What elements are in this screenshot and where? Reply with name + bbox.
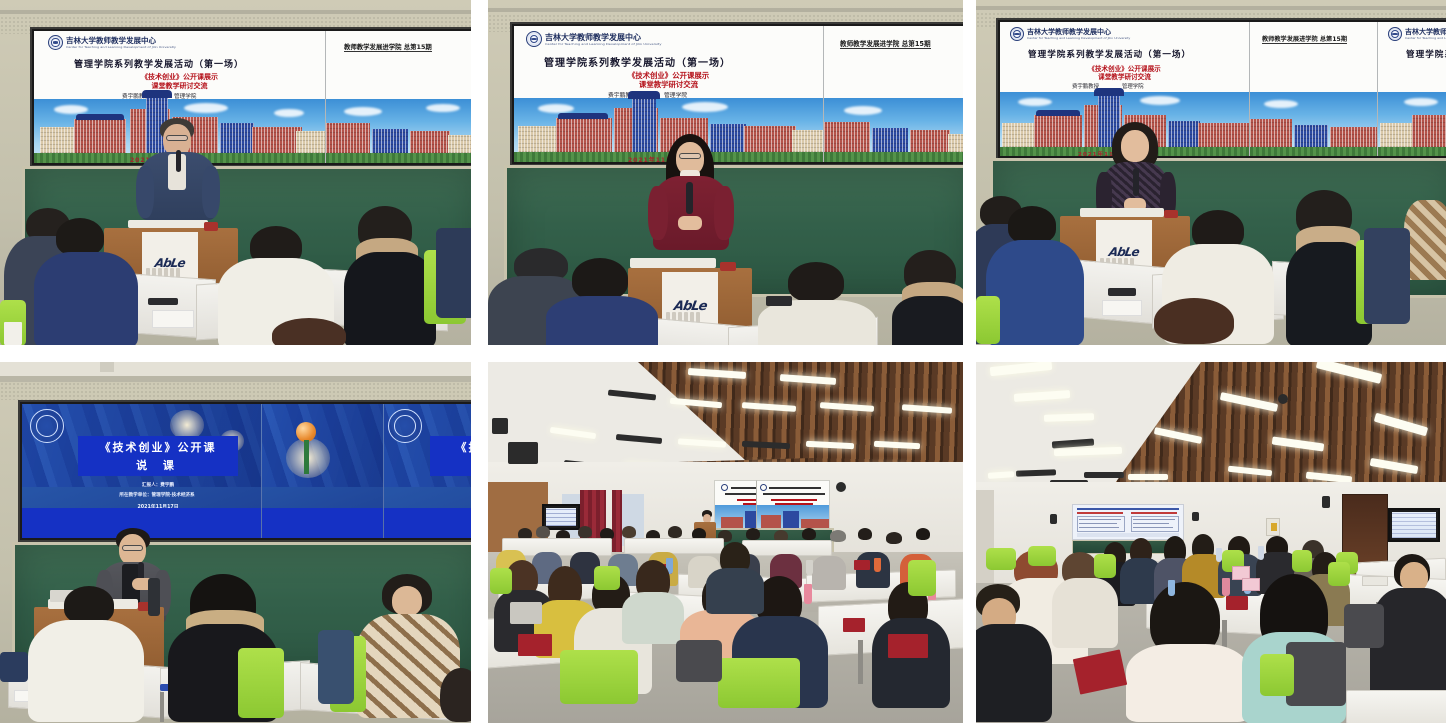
ceiling-speaker-icon bbox=[492, 418, 508, 434]
banner-red-line-2: 课堂教学研讨交流 bbox=[1000, 71, 1249, 81]
led-videowall: 吉林大学教师教学发展中心 Center for Teaching and Lea… bbox=[34, 31, 471, 163]
banner-issue: 教师教学发展进学院 总第15期 bbox=[1262, 34, 1347, 44]
ceiling-camera-icon bbox=[1278, 394, 1288, 404]
photo-cell-top-left[interactable]: 吉林大学教师教学发展中心 Center for Teaching and Lea… bbox=[0, 0, 471, 345]
banner-department: 管理学院 bbox=[1122, 82, 1144, 90]
banner-red-line-2: 课堂教学研讨交流 bbox=[1378, 71, 1446, 81]
banner-red-line-2: 课堂教学研讨交流 bbox=[34, 81, 325, 91]
led-videowall-frame: 《技术创业》公开课 说 课 汇报人：费宇鹏 所在教学单位：管理学院·技术经济系 … bbox=[18, 400, 471, 542]
banner-org-en: Center for Teaching and Learning Develop… bbox=[1027, 36, 1130, 39]
slide-panel: 《技术创业》公开课 说 课 汇报人：费宇鹏 所在教学单位：管理学院·技术经济系 … bbox=[384, 404, 471, 538]
university-seal-icon bbox=[48, 35, 63, 50]
wall-speaker-icon bbox=[1192, 512, 1199, 521]
projector-icon bbox=[508, 442, 538, 464]
banner-title: 管理学院系列教学发展活动（第一场） bbox=[1406, 48, 1446, 60]
slide-panel: 《技术创业》公开课 说 课 汇报人：费宇鹏 所在教学单位：管理学院·技术经济系 … bbox=[22, 404, 262, 538]
university-seal-icon bbox=[526, 31, 542, 47]
university-seal-icon bbox=[1010, 27, 1024, 41]
podium-brand-label: AbLe bbox=[1108, 245, 1140, 259]
wall-speaker-icon bbox=[1050, 514, 1057, 524]
banner-title: 管理学院系列教学发展活动（第一场） bbox=[74, 57, 244, 70]
led-videowall-frame: 吉林大学教师教学发展中心 Center for Teaching and Lea… bbox=[510, 22, 963, 166]
slide-title-box: 《技术创业》公开课 说 课 bbox=[78, 436, 238, 476]
photo-cell-bottom-center[interactable] bbox=[488, 362, 963, 723]
wall-speaker-icon bbox=[1322, 496, 1330, 508]
slide-panel-fill bbox=[262, 404, 384, 538]
photo-cell-bottom-left[interactable]: 《技术创业》公开课 说 课 汇报人：费宇鹏 所在教学单位：管理学院·技术经济系 … bbox=[0, 362, 471, 723]
lantern-decoration bbox=[296, 422, 316, 442]
slide-title-line-1: 《技术创业》公开课 bbox=[456, 439, 472, 455]
university-seal-icon bbox=[388, 409, 422, 443]
wall-sign bbox=[1266, 518, 1280, 536]
grid-gutter-vertical bbox=[963, 362, 976, 723]
photo-3: 吉林大学教师教学发展中心 Center for Teaching and Lea… bbox=[976, 0, 1446, 345]
slide-title-line-2: 说 课 bbox=[136, 457, 180, 473]
photo-5 bbox=[488, 362, 963, 723]
banner-title: 管理学院系列教学发展活动（第一场） bbox=[544, 54, 731, 69]
laptop bbox=[1362, 576, 1388, 586]
banner-org-en: Center for Teaching and Learning Develop… bbox=[66, 45, 176, 48]
slide-reporter: 汇报人：费宇鹏 bbox=[430, 482, 471, 488]
banner-red-line-2: 课堂教学研讨交流 bbox=[514, 79, 823, 90]
photo-6 bbox=[976, 362, 1446, 723]
slide-unit: 所在教学单位：管理学院·技术经济系 bbox=[62, 492, 252, 498]
banner-org-cn: 吉林大学教师教学发展中心 bbox=[1027, 28, 1130, 36]
presentation-slide-wall: 《技术创业》公开课 说 课 汇报人：费宇鹏 所在教学单位：管理学院·技术经济系 … bbox=[22, 404, 471, 538]
university-seal-icon bbox=[30, 409, 64, 443]
banner-org-en: Center for Teaching and Learning Develop… bbox=[1405, 36, 1446, 39]
ceiling-camera-icon bbox=[836, 482, 846, 492]
grid-gutter-vertical bbox=[471, 0, 488, 345]
grid-gutter-horizontal bbox=[0, 345, 1446, 362]
banner-org-en: Center for Teaching and Learning Develop… bbox=[545, 42, 661, 45]
university-seal-icon bbox=[1388, 27, 1402, 41]
photo-grid: 吉林大学教师教学发展中心 Center for Teaching and Lea… bbox=[0, 0, 1446, 723]
name-card bbox=[1242, 578, 1260, 591]
banner-title: 管理学院系列教学发展活动（第一场） bbox=[1028, 48, 1191, 60]
slide-unit: 所在教学单位：管理学院·技术经济系 bbox=[414, 492, 471, 498]
led-videowall: 吉林大学教师教学发展中心 Center for Teaching and Lea… bbox=[514, 26, 963, 162]
grid-gutter-vertical bbox=[963, 0, 976, 345]
banner-org-cn: 吉林大学教师教学发展中心 bbox=[545, 33, 661, 42]
banner-issue: 教师教学发展进学院 总第15期 bbox=[344, 42, 432, 52]
slide-title-line-1: 《技术创业》公开课 bbox=[100, 439, 217, 455]
slide-reporter: 汇报人：费宇鹏 bbox=[78, 482, 238, 488]
banner-issue: 教师教学发展进学院 总第15期 bbox=[840, 38, 931, 49]
photo-cell-bottom-right[interactable] bbox=[976, 362, 1446, 723]
projection-screen bbox=[1072, 504, 1184, 540]
led-videowall-frame: 吉林大学教师教学发展中心 Center for Teaching and Lea… bbox=[30, 27, 471, 167]
led-videowall-frame: 吉林大学教师教学发展中心 Center for Teaching and Lea… bbox=[996, 18, 1446, 160]
banner-org-cn: 吉林大学教师教学发展中心 bbox=[66, 37, 176, 45]
photo-cell-top-center[interactable]: 吉林大学教师教学发展中心 Center for Teaching and Lea… bbox=[488, 0, 963, 345]
banner-org-cn: 吉林大学教师教学发展中心 bbox=[1405, 28, 1446, 36]
led-videowall: 吉林大学教师教学发展中心 Center for Teaching and Lea… bbox=[1000, 22, 1446, 156]
slide-title-box: 《技术创业》公开课 说 课 bbox=[430, 436, 471, 476]
photo-4: 《技术创业》公开课 说 课 汇报人：费宇鹏 所在教学单位：管理学院·技术经济系 … bbox=[0, 362, 471, 723]
wall-display-screen bbox=[1388, 508, 1440, 542]
photo-2: 吉林大学教师教学发展中心 Center for Teaching and Lea… bbox=[488, 0, 963, 345]
grid-gutter-vertical bbox=[471, 362, 488, 723]
photo-1: 吉林大学教师教学发展中心 Center for Teaching and Lea… bbox=[0, 0, 471, 345]
photo-cell-top-right[interactable]: 吉林大学教师教学发展中心 Center for Teaching and Lea… bbox=[976, 0, 1446, 345]
